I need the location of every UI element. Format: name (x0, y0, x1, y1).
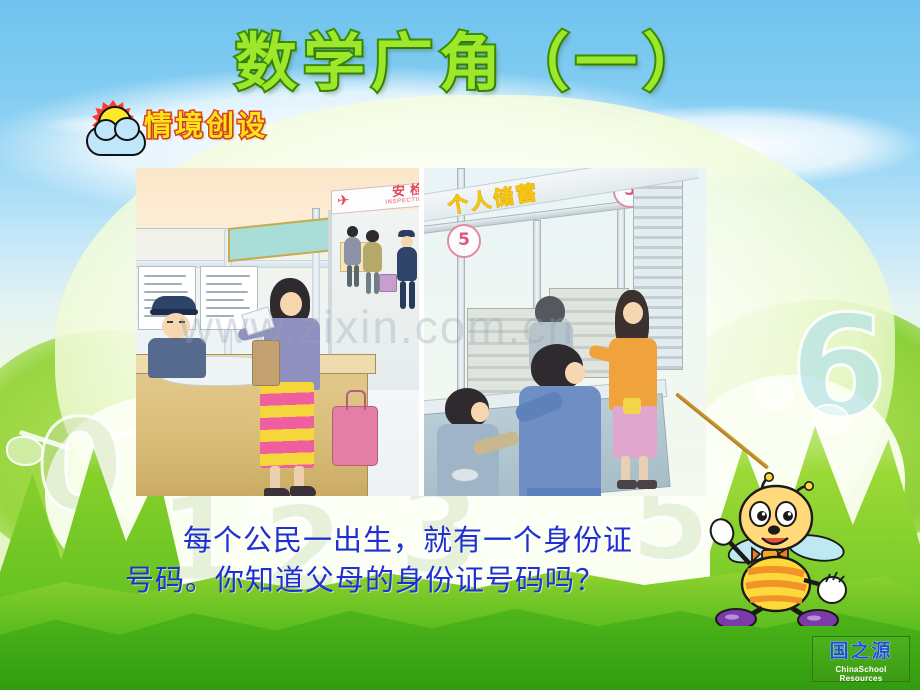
badge-cloud (86, 126, 146, 156)
page-title: 数学广角（一） (235, 12, 711, 102)
caption-line-2: 号码。你知道父母的身份证号码吗？ (125, 560, 745, 600)
brand-logo-en: ChinaSchool Resources (813, 665, 909, 683)
suitcase (332, 406, 378, 466)
sun-cloud-icon (82, 98, 144, 152)
bank-logo-icon: 5 (447, 224, 481, 258)
brand-logo-cn: 国之源 (817, 640, 905, 662)
airplane-icon: ✈ (337, 192, 355, 209)
section-badge: 情境创设 (82, 98, 312, 152)
ghost-hand-six-b (812, 404, 850, 434)
watermark-text: www.zixin.com.cn (180, 300, 575, 354)
section-badge-label: 情境创设 (144, 104, 268, 144)
bee-mascot (706, 468, 878, 626)
caption-text: 每个公民一出生，就有一个身份证 号码。你知道父母的身份证号码吗？ (125, 520, 745, 600)
bee-mascot-svg (706, 468, 878, 626)
slide-canvas: 0 1 2 3 6 5 数学广角（一） 情境创设 (0, 0, 920, 690)
caption-line-1: 每个公民一出生，就有一个身份证 (125, 520, 745, 560)
brand-logo: 国之源 ChinaSchool Resources (812, 636, 910, 682)
ghost-hand-left (6, 436, 44, 466)
ghost-hand-six-a (756, 380, 794, 410)
sign-inspecting-en: INSPECTING (385, 196, 421, 206)
